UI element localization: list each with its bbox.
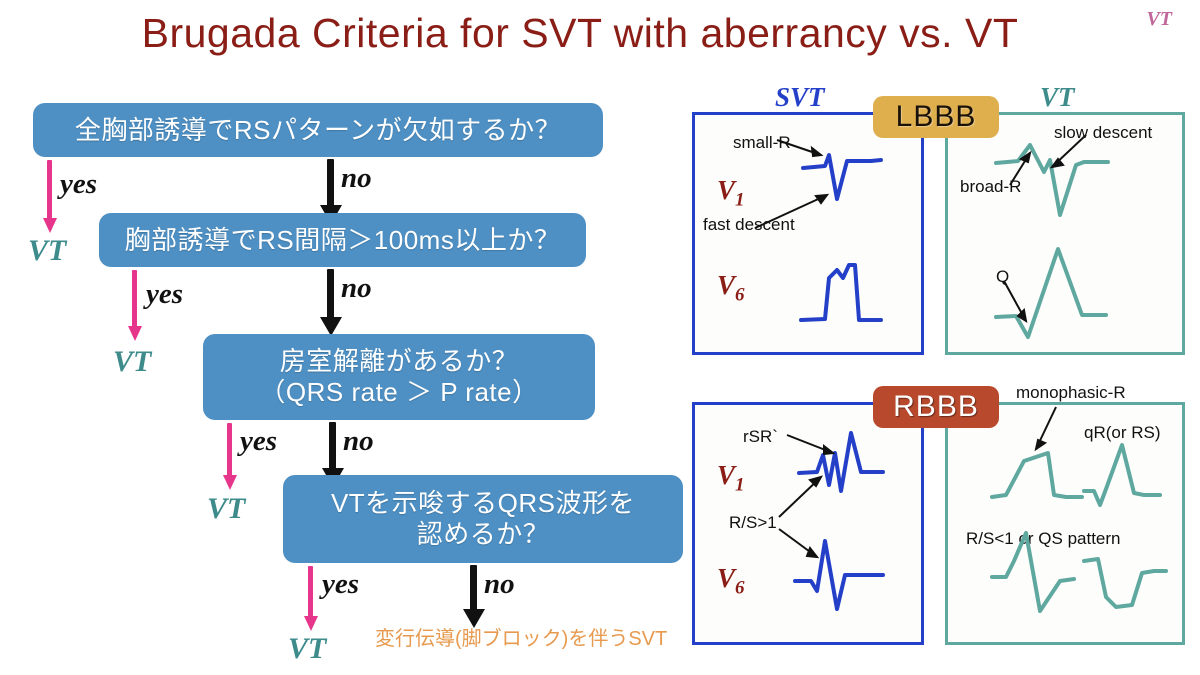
no-label-4: no (484, 568, 515, 601)
ecg-trace-svt-lbbb-v6 (695, 115, 927, 358)
yes-label-4: yes (322, 568, 359, 601)
page-title: Brugada Criteria for SVT with aberrancy … (0, 10, 1160, 57)
ecg-column-header-svt: SVT (775, 82, 825, 113)
no-label-3: no (343, 425, 374, 458)
decision-box-4-line1: VTを示唆するQRS波形を (331, 488, 635, 519)
annotation-monophasic-r: monophasic-R (1016, 383, 1126, 403)
ecg-column-header-vt: VT (1040, 82, 1075, 113)
panel-svt-rbbb: V1 V6 rSR` R/S>1 (692, 402, 924, 645)
yes-label-2: yes (146, 278, 183, 311)
decision-box-4-line2: 認めるか？ (417, 519, 550, 550)
panel-vt-lbbb: slow descent broad-R Q (945, 112, 1185, 355)
slide-canvas: Brugada Criteria for SVT with aberrancy … (0, 0, 1200, 675)
badge-lbbb[interactable]: LBBB (873, 96, 999, 138)
decision-box-3-line1: 房室解離があるか？ (280, 346, 519, 377)
vt-watermark-logo: VT (1146, 8, 1172, 31)
ecg-trace-svt-rbbb-v6 (695, 405, 927, 648)
ecg-trace-vt-rbbb-bottomright (948, 405, 1188, 648)
panel-svt-lbbb: V1 V6 small-R fast descent (692, 112, 924, 355)
svt-outcome: 変行伝導(脚ブロック)を伴うSVT (375, 622, 667, 651)
badge-rbbb[interactable]: RBBB (873, 386, 999, 428)
decision-box-1[interactable]: 全胸部誘導でRSパターンが欠如するか？ (33, 103, 603, 157)
decision-box-4[interactable]: VTを示唆するQRS波形を 認めるか？ (283, 475, 683, 563)
no-label-1: no (341, 162, 372, 195)
no-label-2: no (341, 272, 372, 305)
decision-box-2[interactable]: 胸部誘導でRS間隔＞100ms以上か？ (99, 213, 586, 267)
vt-outcome-2: VT (113, 345, 151, 379)
decision-box-3-line2: （QRS rate ＞ P rate） (259, 377, 538, 408)
vt-outcome-3: VT (207, 492, 245, 526)
ecg-trace-vt-lbbb-bottom (948, 115, 1188, 358)
decision-box-3[interactable]: 房室解離があるか？ （QRS rate ＞ P rate） (203, 334, 595, 420)
yes-label-1: yes (60, 168, 97, 201)
panel-vt-rbbb: monophasic-R qR(or RS) R/S<1 or QS patte… (945, 402, 1185, 645)
yes-label-3: yes (240, 425, 277, 458)
vt-outcome-4: VT (288, 632, 326, 666)
vt-outcome-1: VT (28, 234, 66, 268)
